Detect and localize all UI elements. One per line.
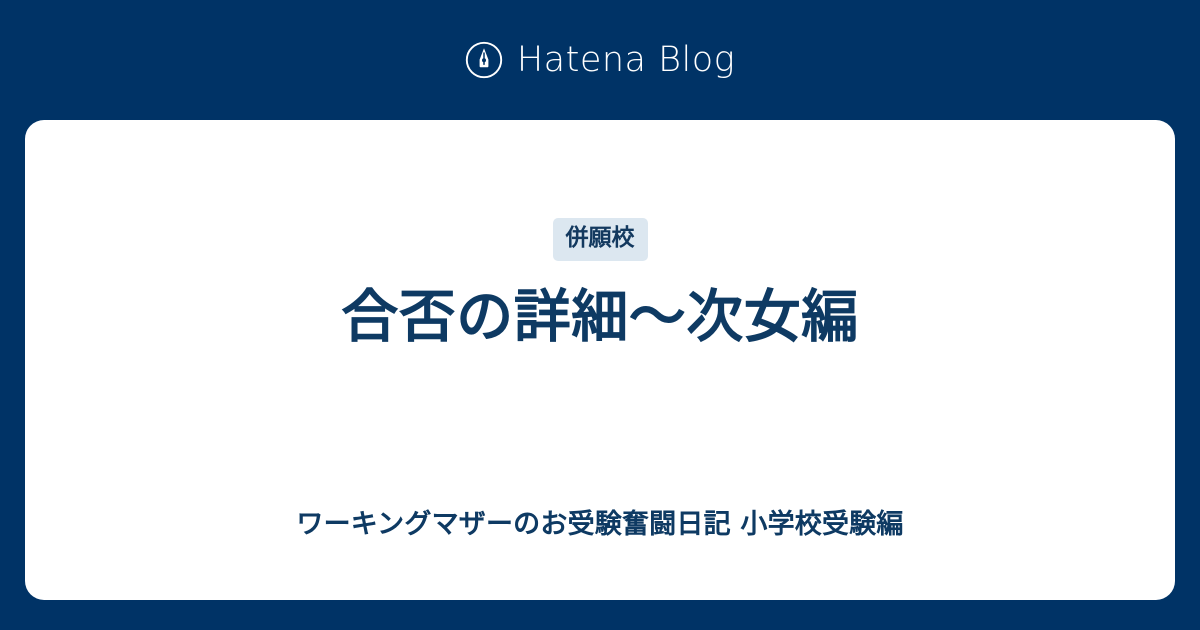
blog-title-area: ワーキングマザーのお受験奮闘日記 小学校受験編 [25, 450, 1175, 600]
entry-card-body: 併願校 合否の詳細〜次女編 [25, 120, 1175, 450]
blog-title[interactable]: ワーキングマザーのお受験奮闘日記 小学校受験編 [296, 507, 903, 542]
entry-title: 合否の詳細〜次女編 [341, 283, 859, 353]
hatena-blog-brand-name: Hatena Blog [517, 43, 735, 78]
hatena-blog-brand-header: Hatena Blog [0, 0, 1200, 120]
hatena-pen-nib-icon [465, 41, 503, 79]
category-tag[interactable]: 併願校 [553, 218, 648, 261]
ogp-card-page: Hatena Blog 併願校 合否の詳細〜次女編 ワーキングマザーのお受験奮闘… [0, 0, 1200, 630]
entry-card: 併願校 合否の詳細〜次女編 ワーキングマザーのお受験奮闘日記 小学校受験編 [25, 120, 1175, 600]
